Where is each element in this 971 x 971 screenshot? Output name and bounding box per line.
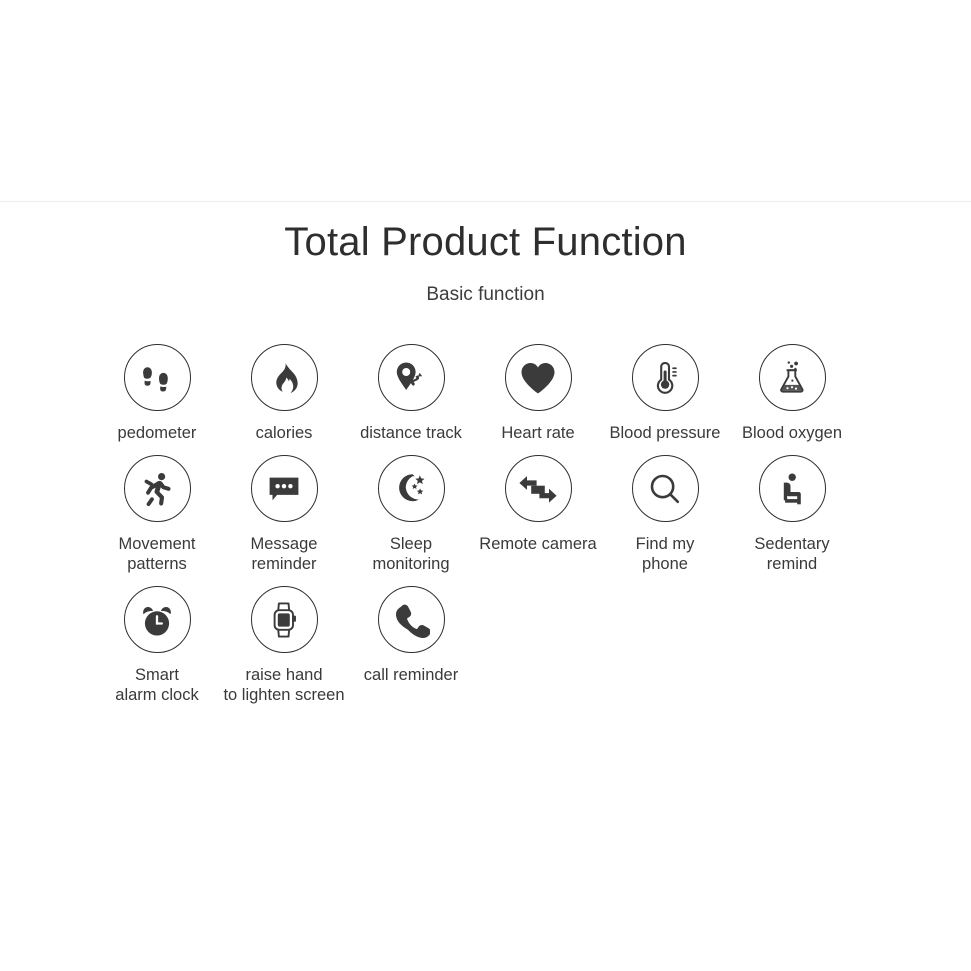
function-item-remote-camera[interactable]: Remote camera: [475, 455, 602, 554]
double-arrow-icon: [517, 472, 559, 506]
function-item-label: Movement patterns: [118, 534, 195, 574]
function-item-heart-rate[interactable]: Heart rate: [475, 344, 602, 443]
page-subtitle: Basic function: [0, 266, 971, 306]
function-item-label: Sedentary remind: [754, 534, 829, 574]
alarm-clock-icon: [137, 601, 177, 639]
product-function-poster: Total Product Function Basic function: [0, 0, 971, 971]
function-item-smart-alarm-clock[interactable]: Smart alarm clock: [94, 586, 221, 705]
icon-circle: [632, 344, 699, 411]
footprints-icon: [137, 358, 177, 398]
function-row: pedometer calories: [86, 344, 886, 443]
function-item-label: pedometer: [118, 423, 197, 443]
function-item-call-reminder[interactable]: call reminder: [348, 586, 475, 685]
function-item-sleep-monitoring[interactable]: Sleep monitoring: [348, 455, 475, 574]
function-item-label: raise hand to lighten screen: [217, 665, 352, 705]
function-item-label: calories: [256, 423, 313, 443]
icon-circle: [505, 344, 572, 411]
sitting-person-icon: [772, 469, 812, 509]
running-person-icon: [137, 469, 177, 509]
function-item-label: Find my phone: [636, 534, 695, 574]
icon-circle: [505, 455, 572, 522]
icon-circle: [124, 455, 191, 522]
icon-circle: [759, 344, 826, 411]
thermometer-icon: [646, 358, 684, 398]
phone-handset-icon: [392, 601, 430, 639]
moon-stars-icon: [391, 469, 431, 509]
top-blank-band: [0, 0, 971, 201]
icon-circle: [124, 344, 191, 411]
icon-circle: [378, 455, 445, 522]
flask-icon: [773, 358, 811, 398]
icon-circle: [378, 344, 445, 411]
function-item-pedometer[interactable]: pedometer: [94, 344, 221, 443]
function-item-find-my-phone[interactable]: Find my phone: [602, 455, 729, 574]
location-pin-path-icon: [390, 358, 432, 398]
icon-circle: [251, 344, 318, 411]
smartwatch-icon: [266, 599, 302, 641]
function-item-blood-oxygen[interactable]: Blood oxygen: [729, 344, 856, 443]
icon-circle: [251, 455, 318, 522]
function-item-raise-hand-lighten-screen[interactable]: raise hand to lighten screen: [221, 586, 348, 705]
speech-bubble-icon: [264, 472, 304, 506]
function-item-label: Blood oxygen: [742, 423, 842, 443]
function-item-label: Blood pressure: [610, 423, 721, 443]
function-item-movement-patterns[interactable]: Movement patterns: [94, 455, 221, 574]
function-item-label: Remote camera: [479, 534, 596, 554]
function-item-label: distance track: [360, 423, 462, 443]
page-title: Total Product Function: [0, 202, 971, 266]
function-item-calories[interactable]: calories: [221, 344, 348, 443]
icon-circle: [378, 586, 445, 653]
icon-circle: [251, 586, 318, 653]
function-item-label: call reminder: [364, 665, 458, 685]
flame-icon: [265, 359, 303, 397]
heart-icon: [518, 359, 558, 397]
function-item-label: Sleep monitoring: [372, 534, 449, 574]
function-grid: pedometer calories: [86, 306, 886, 705]
function-item-message-reminder[interactable]: Message reminder: [221, 455, 348, 574]
function-item-label: Smart alarm clock: [115, 665, 198, 705]
icon-circle: [632, 455, 699, 522]
icon-circle: [124, 586, 191, 653]
magnifier-icon: [645, 469, 685, 509]
function-row: Movement patterns: [86, 455, 886, 574]
function-row: Smart alarm clock: [86, 586, 886, 705]
function-item-label: Heart rate: [501, 423, 574, 443]
icon-circle: [759, 455, 826, 522]
content-area: Total Product Function Basic function: [0, 202, 971, 705]
function-item-blood-pressure[interactable]: Blood pressure: [602, 344, 729, 443]
function-item-label: Message reminder: [251, 534, 318, 574]
function-item-sedentary-remind[interactable]: Sedentary remind: [729, 455, 856, 574]
function-item-distance-track[interactable]: distance track: [348, 344, 475, 443]
